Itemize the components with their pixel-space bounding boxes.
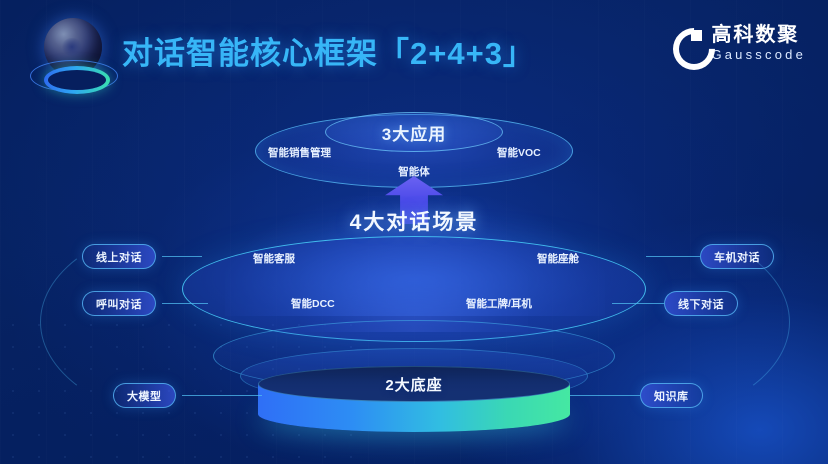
pill-large-model[interactable]: 大模型 [113,383,176,408]
sphere-logo-icon [28,16,112,96]
connector-right-bottom [612,303,664,304]
application-label-sales-management: 智能销售管理 [268,145,331,160]
scene-label-dcc: 智能DCC [291,296,335,311]
brand-name-cn: 高科数聚 [711,25,806,45]
application-layer-title: 3大应用 [325,116,503,148]
pill-knowledge-base[interactable]: 知识库 [640,383,703,408]
page-title: 对话智能核心框架「2+4+3」 [122,28,535,73]
framework-diagram: 3大应用 智能销售管理 智能VOC 智能体 4大对话场景 智能客服 智能座舱 智… [0,96,828,464]
application-label-voc: 智能VOC [497,145,541,160]
slide-canvas: 对话智能核心框架「2+4+3」 高科数聚 Gausscode 3大应用 智能销售… [0,0,828,464]
sphere-inner-ring-icon [44,66,110,94]
connector-bottom-left [182,395,262,396]
pill-invehicle-dialogue[interactable]: 车机对话 [700,244,774,269]
connector-right-top [646,256,700,257]
base-layer-title: 2大底座 [258,374,570,395]
connector-left-top [162,256,202,257]
pill-offline-dialogue[interactable]: 线下对话 [664,291,738,316]
connector-left-bottom [162,303,208,304]
scene-label-badge-headset: 智能工牌/耳机 [466,296,532,311]
slide-header: 对话智能核心框架「2+4+3」 高科数聚 Gausscode [0,0,828,104]
brand-name-en: Gausscode [711,48,806,61]
scene-layer-title: 4大对话场景 [0,206,828,236]
brand-logo: 高科数聚 Gausscode [673,16,806,70]
pill-call-dialogue[interactable]: 呼叫对话 [82,291,156,316]
pill-online-dialogue[interactable]: 线上对话 [82,244,156,269]
scene-label-cockpit: 智能座舱 [537,251,579,266]
base-layer-cylinder: 2大底座 [258,366,570,428]
connector-bottom-right [570,395,640,396]
scene-label-customer-service: 智能客服 [253,251,295,266]
gausscode-g-mark-icon [673,28,703,58]
